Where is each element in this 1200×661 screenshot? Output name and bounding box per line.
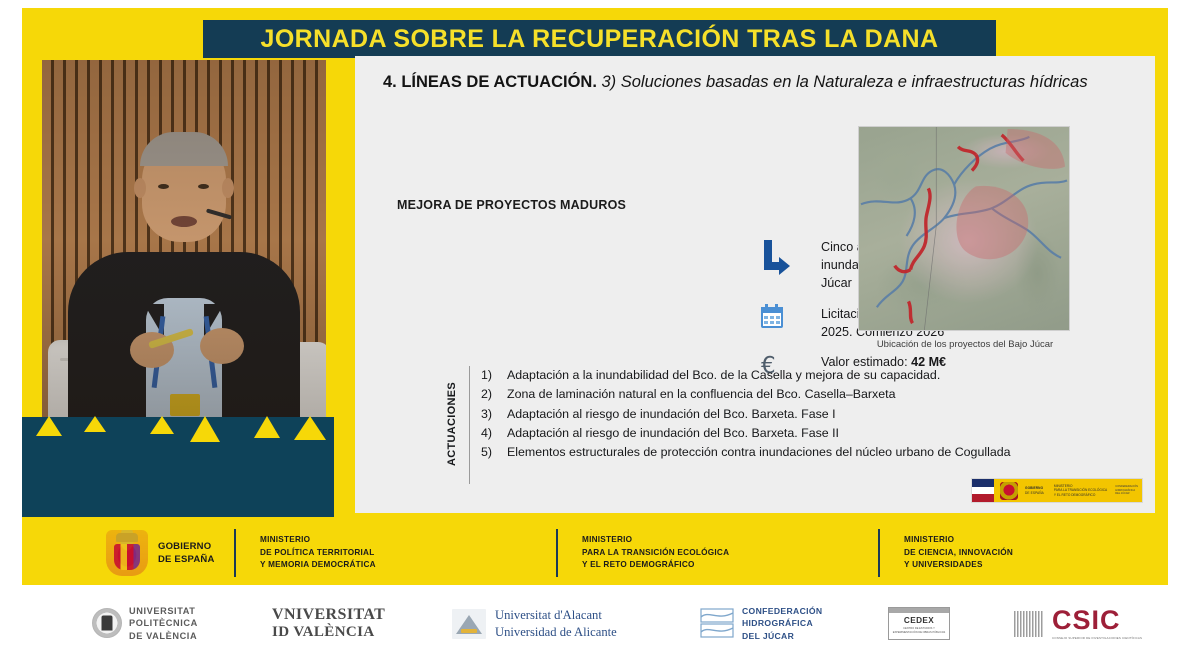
slide-title: 4. LÍNEAS DE ACTUACIÓN. 3) Soluciones ba… — [383, 72, 1131, 94]
actions-list: 1) Adaptación a la inundabilidad del Bco… — [481, 366, 1131, 463]
map-overlay-vectors — [859, 127, 1069, 330]
actions-list-item: 4) Adaptación al riesgo de inundación de… — [481, 424, 1131, 443]
actions-list-item: 2) Zona de laminación natural en la conf… — [481, 385, 1131, 404]
logo-cedex: CEDEX CENTRO DE ESTUDIOS Y EXPERIMENTACI… — [888, 607, 950, 640]
actions-vertical-label: ACTUACIONES — [443, 372, 461, 476]
cedex-subtitle: CENTRO DE ESTUDIOS Y EXPERIMENTACIÓN DE … — [891, 627, 947, 634]
slide-title-italic: 3) Soluciones basadas en la Naturaleza e… — [602, 73, 1088, 91]
ministry-cell-ciencia-innovacion: MINISTERIO DE CIENCIA, INNOVACIÓN Y UNIV… — [878, 521, 1168, 585]
ministry-cell-gobierno: GOBIERNO DE ESPAÑA — [22, 521, 234, 585]
ministry-text: MINISTERIO DE CIENCIA, INNOVACIÓN Y UNIV… — [904, 534, 1013, 572]
actions-item-text: Elementos estructurales de protección co… — [507, 443, 1131, 462]
video-vignette — [42, 60, 326, 460]
bullet-icon-slot — [755, 306, 821, 328]
location-map-image — [858, 126, 1070, 331]
actions-item-text: Adaptación al riesgo de inundación del B… — [507, 424, 1131, 443]
slide-government-logo: GOBIERNO DE ESPAÑA MINISTERIO PARA LA TR… — [971, 478, 1143, 503]
actions-list-item: 1) Adaptación a la inundabilidad del Bco… — [481, 366, 1131, 385]
event-title-text: JORNADA SOBRE LA RECUPERACIÓN TRAS LA DA… — [261, 25, 939, 54]
actions-item-text: Adaptación al riesgo de inundación del B… — [507, 405, 1131, 424]
cedex-top-bar — [889, 608, 949, 613]
ministry-divider — [556, 529, 558, 577]
zigzag-tooth — [84, 416, 106, 432]
speaker-video-feed[interactable] — [42, 60, 326, 460]
zigzag-tooth — [294, 416, 326, 440]
csic-subtitle: CONSEJO SUPERIOR DE INVESTIGACIONES CIEN… — [1052, 636, 1142, 640]
event-title-banner: JORNADA SOBRE LA RECUPERACIÓN TRAS LA DA… — [203, 20, 996, 58]
logo-universitat-de-valencia: VNIVERSITAT ID VALÈNCIA — [272, 606, 385, 640]
actions-item-number: 5) — [481, 443, 507, 462]
zigzag-tooth — [254, 416, 280, 438]
upv-seal-icon — [92, 608, 122, 638]
actions-item-number: 1) — [481, 366, 507, 385]
zigzag-tooth — [36, 416, 62, 436]
bullet-icon-slot — [755, 239, 821, 278]
csic-text: CSIC CONSEJO SUPERIOR DE INVESTIGACIONES… — [1052, 607, 1142, 640]
spain-flag-icon — [972, 479, 994, 502]
gov-mini-chj: CONFEDERACIÓN HIDROGRÁFICA DEL JÚCAR — [1115, 485, 1138, 495]
ministry-text: GOBIERNO DE ESPAÑA — [158, 540, 215, 567]
gov-mini-gobierno: GOBIERNO DE ESPAÑA — [1025, 486, 1044, 495]
logo-universidad-de-alicante: Universitat d'Alacant Universidad de Ali… — [452, 607, 617, 639]
water-waves-icon — [700, 608, 734, 638]
section-heading: MEJORA DE PROYECTOS MADUROS — [397, 198, 626, 212]
gov-mini-ministerio: MINISTERIO PARA LA TRANSICIÓN ECOLÓGICA … — [1054, 484, 1107, 497]
cedex-box-icon: CEDEX CENTRO DE ESTUDIOS Y EXPERIMENTACI… — [888, 607, 950, 640]
actions-item-number: 3) — [481, 405, 507, 424]
csic-grid-icon — [1014, 611, 1044, 637]
csic-name: CSIC — [1052, 607, 1142, 634]
actions-item-number: 4) — [481, 424, 507, 443]
ua-mountain-icon — [452, 609, 486, 639]
coat-of-arms-icon — [1000, 482, 1018, 500]
zigzag-tooth — [150, 416, 174, 434]
ministry-divider — [234, 529, 236, 577]
partner-logos-strip: UNIVERSITAT POLITÈCNICA DE VALÈNCIA VNIV… — [0, 586, 1200, 661]
actions-item-number: 2) — [481, 385, 507, 404]
ministries-bar: GOBIERNO DE ESPAÑA MINISTERIO DE POLÍTIC… — [22, 521, 1168, 585]
arrow-corner-icon — [761, 240, 791, 278]
uv-text: VNIVERSITAT ID VALÈNCIA — [272, 606, 385, 640]
actions-block: ACTUACIONES 1) Adaptación a la inundabil… — [443, 366, 1131, 463]
logo-csic: CSIC CONSEJO SUPERIOR DE INVESTIGACIONES… — [1014, 607, 1142, 640]
ministry-cell-transicion-ecologica: MINISTERIO PARA LA TRANSICIÓN ECOLÓGICA … — [556, 521, 878, 585]
actions-item-text: Zona de laminación natural en la conflue… — [507, 385, 1131, 404]
actions-divider-rule — [469, 366, 470, 484]
slide-title-bold: 4. LÍNEAS DE ACTUACIÓN. — [383, 73, 597, 91]
presentation-screen: JORNADA SOBRE LA RECUPERACIÓN TRAS LA DA… — [0, 0, 1200, 661]
ministry-cell-politica-territorial: MINISTERIO DE POLÍTICA TERRITORIAL Y MEM… — [234, 521, 556, 585]
ministry-divider — [878, 529, 880, 577]
actions-list-item: 5) Elementos estructurales de protección… — [481, 443, 1131, 462]
cedex-name: CEDEX — [889, 616, 949, 625]
slide-content: 4. LÍNEAS DE ACTUACIÓN. 3) Soluciones ba… — [355, 56, 1155, 513]
upv-text: UNIVERSITAT POLITÈCNICA DE VALÈNCIA — [129, 605, 198, 641]
chj-text: CONFEDERACIÓN HIDROGRÁFICA DEL JÚCAR — [742, 605, 822, 642]
navy-decorative-band — [22, 417, 334, 517]
actions-list-item: 3) Adaptación al riesgo de inundación de… — [481, 405, 1131, 424]
map-caption: Ubicación de los proyectos del Bajo Júca… — [851, 339, 1079, 350]
actions-item-text: Adaptación a la inundabilidad del Bco. d… — [507, 366, 1131, 385]
zigzag-tooth — [190, 416, 220, 442]
ministry-text: MINISTERIO PARA LA TRANSICIÓN ECOLÓGICA … — [582, 534, 729, 572]
ministry-text: MINISTERIO DE POLÍTICA TERRITORIAL Y MEM… — [260, 534, 376, 572]
logo-confederacion-hidrografica-jucar: CONFEDERACIÓN HIDROGRÁFICA DEL JÚCAR — [700, 605, 822, 642]
calendar-icon — [761, 307, 783, 328]
logo-upv: UNIVERSITAT POLITÈCNICA DE VALÈNCIA — [92, 605, 198, 641]
spain-coat-of-arms-icon — [106, 530, 148, 576]
ua-text: Universitat d'Alacant Universidad de Ali… — [495, 607, 617, 639]
